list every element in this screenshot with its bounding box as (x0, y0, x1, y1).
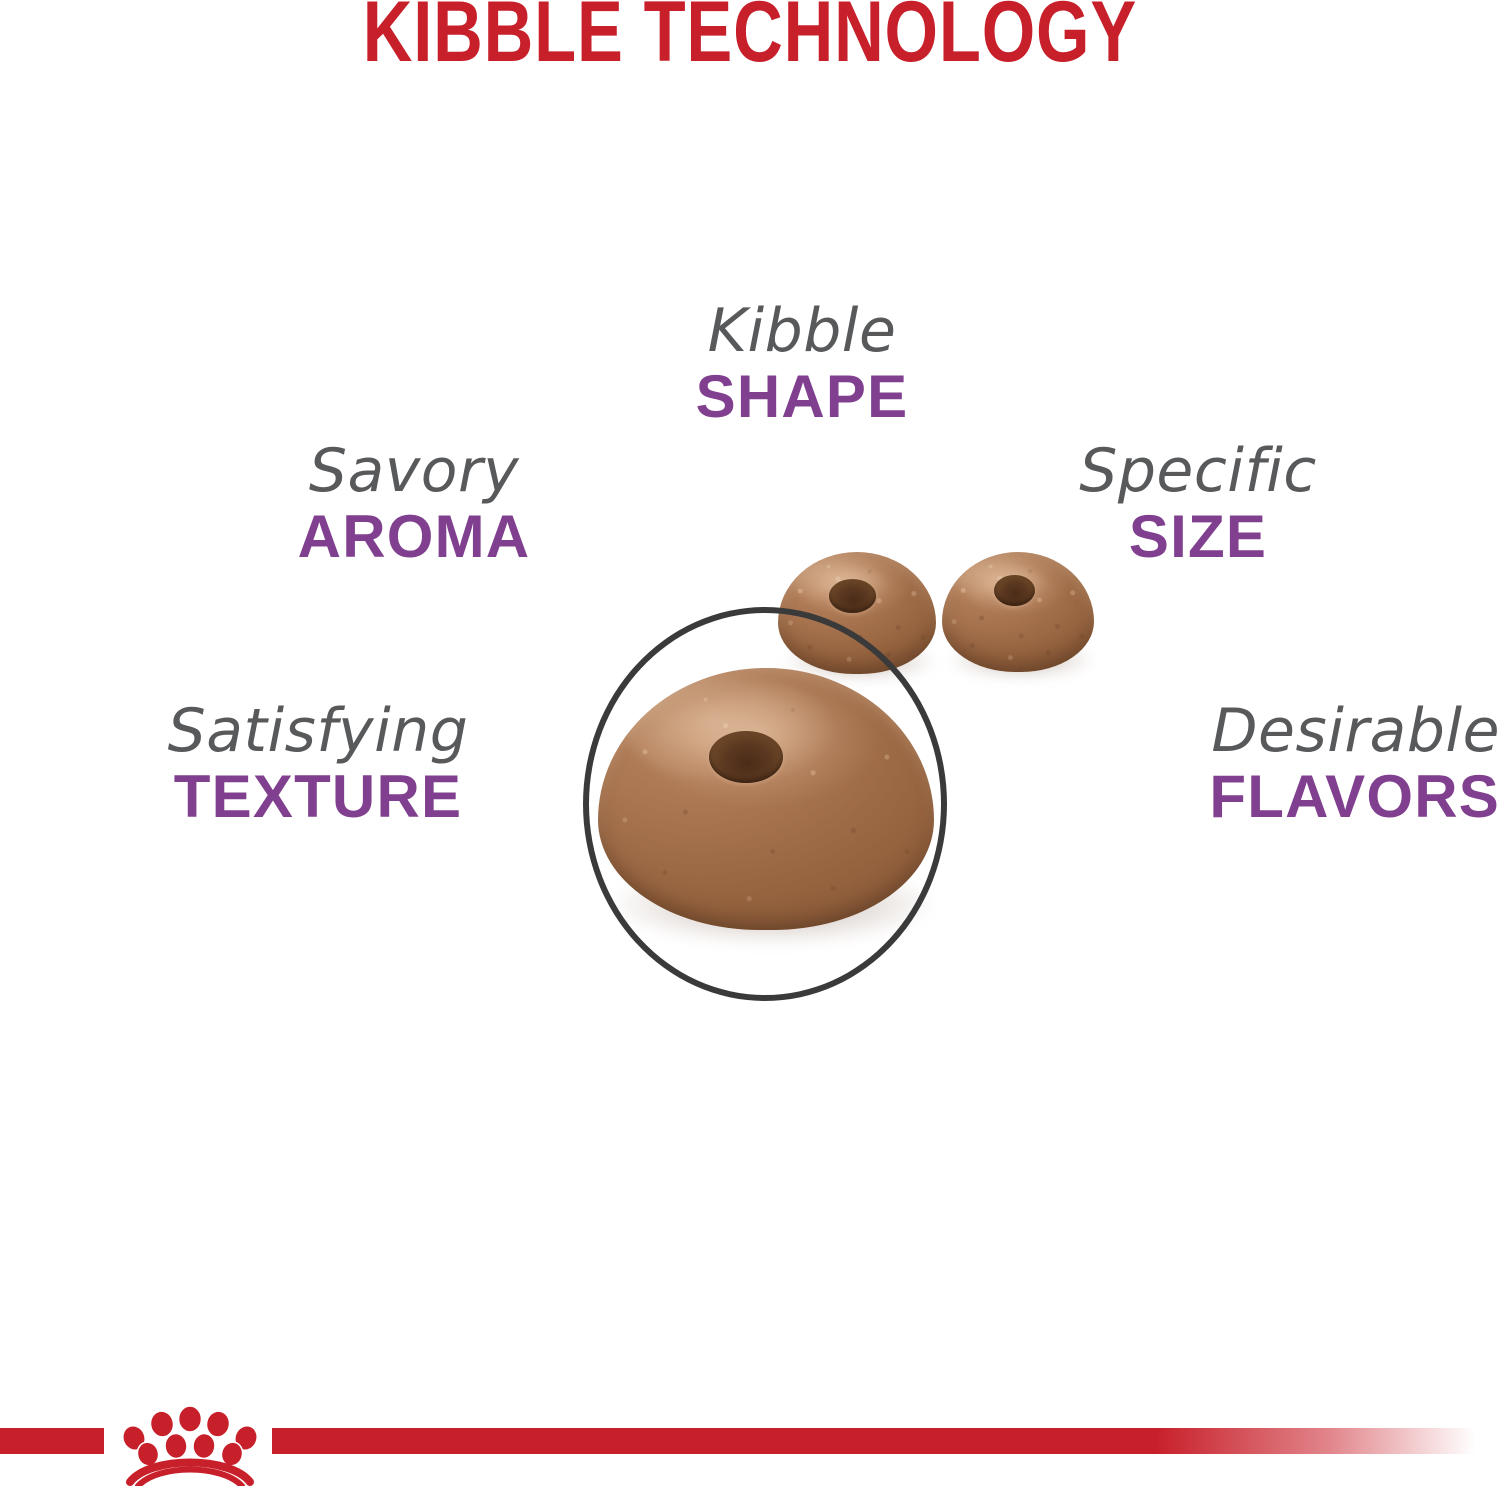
footer (0, 1380, 1500, 1492)
kibble-body (598, 668, 934, 930)
title-bar: KIBBLE TECHNOLOGY (0, 0, 1500, 80)
footer-rule-left (0, 1428, 104, 1454)
kibble-shadow (948, 641, 1094, 679)
feature-flavors-top-word: Desirable (1118, 700, 1500, 763)
feature-size-top-word: Specific (1048, 440, 1348, 503)
feature-texture-bottom-word: TEXTURE (118, 763, 518, 830)
feature-aroma-top-word: Savory (244, 440, 584, 503)
kibble-body (778, 552, 936, 674)
feature-label-size: Specific SIZE (1048, 440, 1348, 570)
feature-flavors-bottom-word: FLAVORS (1118, 763, 1500, 830)
feature-aroma-bottom-word: AROMA (244, 503, 584, 570)
kibble-small-left (778, 552, 936, 674)
royal-canin-crown-logo (104, 1394, 276, 1486)
magnifier-ring-icon (583, 607, 947, 1001)
kibble-large-magnified (598, 668, 934, 930)
feature-label-flavors: Desirable FLAVORS (1118, 700, 1500, 830)
feature-shape-top-word: Kibble (622, 300, 982, 363)
kibble-center-hole (994, 575, 1035, 606)
feature-label-shape: Kibble SHAPE (622, 300, 982, 430)
kibble-shadow (784, 642, 936, 681)
footer-rule-right (272, 1428, 1500, 1454)
feature-texture-top-word: Satisfying (118, 700, 518, 763)
kibble-center-hole (709, 731, 783, 783)
feature-label-texture: Satisfying TEXTURE (118, 700, 518, 830)
page-title: KIBBLE TECHNOLOGY (363, 0, 1137, 75)
feature-size-bottom-word: SIZE (1048, 503, 1348, 570)
kibble-shadow (611, 862, 934, 946)
feature-label-aroma: Savory AROMA (244, 440, 584, 570)
kibble-center-hole (829, 579, 876, 613)
feature-shape-bottom-word: SHAPE (622, 363, 982, 430)
